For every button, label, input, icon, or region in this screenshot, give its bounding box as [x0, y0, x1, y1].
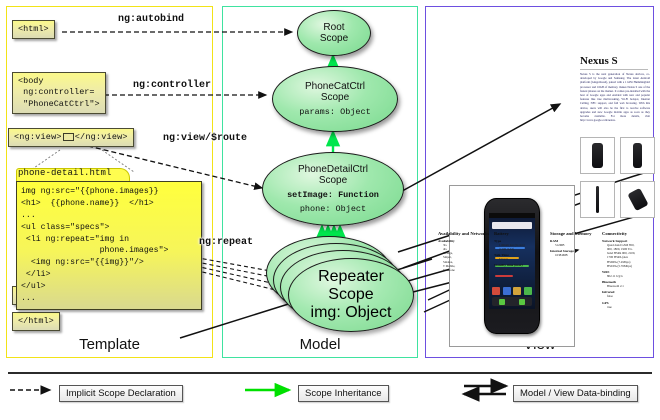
- spec-heading: Storage and Memory: [550, 231, 600, 237]
- scope-repeater-title: RepeaterScope: [318, 268, 384, 304]
- view-specs-table: Availability and NetworksAvailability3G4…: [438, 231, 650, 336]
- scope-repeater-props: img: Object: [311, 304, 392, 322]
- ngview-open-label: <ng:view>: [14, 132, 62, 142]
- spec-value: 6 hours: [494, 257, 548, 261]
- thumb-phone-front: [592, 143, 603, 168]
- spec-value: true: [602, 305, 652, 309]
- spec-heading: Availability and Networks: [438, 231, 490, 237]
- view-thumbnail-2[interactable]: [620, 137, 655, 174]
- spec-value: 802.11 b/g/n: [602, 274, 652, 278]
- scope-root-title: RootScope: [320, 22, 348, 45]
- label-ng-view-route: ng:view/$route: [163, 133, 247, 144]
- spec-value: Vodafone: [438, 268, 490, 272]
- view-detail-rule: [580, 69, 648, 70]
- thumb-phone-back: [633, 143, 642, 168]
- thumb-phone-side: [596, 186, 599, 213]
- legend-item-data-binding: Model / View Data-binding: [513, 385, 638, 402]
- template-file-note[interactable]: img ng:src="{{phone.images}} <h1> {{phon…: [16, 168, 192, 310]
- tag-ngview[interactable]: <ng:view></ng:view>: [8, 128, 134, 147]
- spec-column: BatteryTypeLithium Ion (Li-Ion)(1500 mAh…: [494, 231, 548, 272]
- thumb-phone-angled: [627, 188, 648, 211]
- spec-column: ConnectivityNetwork SupportQuad-band GSM…: [602, 231, 652, 309]
- spec-value: 428 hours: [494, 267, 548, 271]
- scope-phonecatctrl-title: PhoneCatCtrlScope: [305, 81, 365, 104]
- label-ng-controller: ng:controller: [133, 80, 211, 91]
- spec-value: false: [602, 294, 652, 298]
- tag-html-open[interactable]: <html>: [12, 20, 55, 39]
- scope-phonecatctrl[interactable]: PhoneCatCtrlScope params: Object: [272, 66, 398, 132]
- file-note-filename: phone-detail.html: [18, 168, 112, 178]
- view-rendered-page: Nexus S Nexus S is the next generation o…: [428, 9, 651, 355]
- diagram-canvas: Template Model View: [0, 0, 660, 420]
- spec-value: (1500 mAh): [494, 247, 548, 251]
- spec-heading: Connectivity: [602, 231, 652, 237]
- spec-column: Availability and NetworksAvailability3G4…: [438, 231, 490, 272]
- spec-heading: Battery: [494, 231, 548, 237]
- panel-template-label: Template: [7, 336, 212, 353]
- label-ng-repeat: ng:repeat: [199, 237, 253, 248]
- phone-statusbar: [489, 213, 535, 218]
- phone-searchbar: [492, 222, 532, 229]
- scope-root[interactable]: RootScope: [297, 10, 371, 56]
- tag-body-open[interactable]: <body ng:controller= "PhoneCatCtrl">: [12, 72, 106, 114]
- ngview-close-label: </ng:view>: [75, 132, 128, 142]
- tag-html-close[interactable]: </html>: [12, 312, 60, 331]
- panel-model-label: Model: [223, 336, 417, 353]
- spec-value: HSUPA (5.76Mbps): [602, 264, 652, 268]
- file-note-code: img ng:src="{{phone.images}} <h1> {{phon…: [16, 181, 202, 310]
- legend-item-implicit-scope-declaration: Implicit Scope Declaration: [59, 385, 183, 402]
- scope-phonedetailctrl-props: setImage: Functionphone: Object: [287, 187, 379, 214]
- legend-divider: [8, 372, 652, 374]
- scope-phonedetailctrl[interactable]: PhoneDetailCtrlScope setImage: Functionp…: [262, 152, 404, 226]
- view-detail-title: Nexus S: [580, 55, 618, 67]
- view-detail-paragraph: Nexus S is the next generation of Nexus …: [580, 72, 650, 122]
- view-thumbnail-4[interactable]: [620, 181, 655, 218]
- spec-value: Bluetooth 2.1: [602, 284, 652, 288]
- scope-phonedetailctrl-title: PhoneDetailCtrlScope: [298, 164, 368, 187]
- spec-column: Storage and MemoryRAM512MBInternal Stora…: [550, 231, 600, 257]
- spec-value: 512MB: [550, 243, 600, 247]
- scope-repeater[interactable]: RepeaterScope img: Object: [288, 258, 414, 332]
- legend-item-scope-inheritance: Scope Inheritance: [298, 385, 389, 402]
- spec-value: 16384MB: [550, 253, 600, 257]
- view-thumbnail-3[interactable]: [580, 181, 615, 218]
- label-ng-autobind: ng:autobind: [118, 14, 184, 25]
- scope-phonecatctrl-props: params: Object: [299, 104, 370, 118]
- ngview-placeholder-icon: [63, 133, 74, 141]
- view-thumbnail-1[interactable]: [580, 137, 615, 174]
